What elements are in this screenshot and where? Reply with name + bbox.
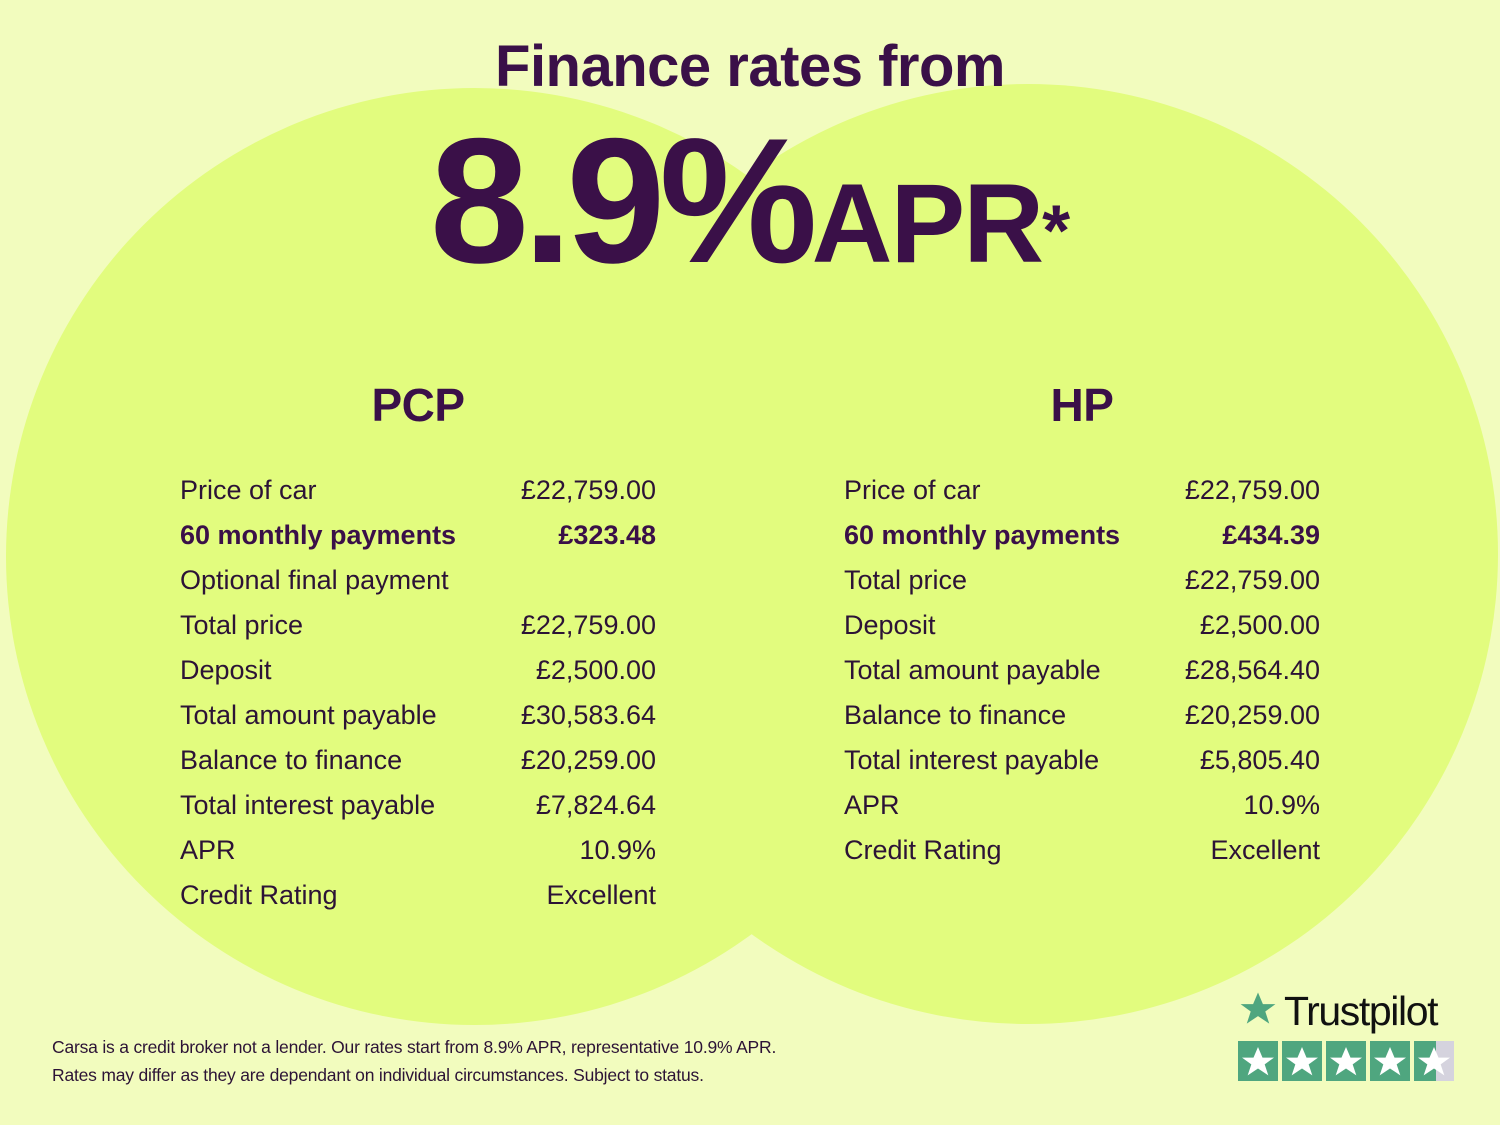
star-icon [1370, 1041, 1410, 1081]
trustpilot-wordmark-text: Trustpilot [1284, 991, 1437, 1032]
row-value: £20,259.00 [521, 738, 656, 783]
table-row: Balance to finance£20,259.00 [844, 693, 1320, 738]
table-row: APR10.9% [844, 783, 1320, 828]
row-value: £22,759.00 [521, 603, 656, 648]
table-row: Balance to finance£20,259.00 [180, 738, 656, 783]
plan-pcp-title: PCP [168, 382, 668, 428]
page-title: Finance rates from [0, 38, 1500, 96]
row-value: £20,259.00 [1185, 693, 1320, 738]
row-label: Credit Rating [844, 828, 1002, 873]
table-row: 60 monthly payments£323.48 [180, 513, 656, 558]
row-label: Deposit [844, 603, 936, 648]
row-label: Total price [180, 603, 303, 648]
plan-hp-title: HP [832, 382, 1332, 428]
row-value: 10.9% [579, 828, 656, 873]
row-value: £28,564.40 [1185, 648, 1320, 693]
row-label: 60 monthly payments [844, 513, 1120, 558]
trustpilot-logo: Trustpilot [1238, 990, 1454, 1033]
table-row: Total amount payable£28,564.40 [844, 648, 1320, 693]
row-label: Total price [844, 558, 967, 603]
apr-label: APR [812, 161, 1042, 286]
apr-headline: 8.9%APR* [0, 112, 1500, 290]
row-value: £7,824.64 [536, 783, 656, 828]
trustpilot-star [1326, 1041, 1366, 1081]
apr-rate-value: 8.9% [430, 101, 812, 300]
table-row: Deposit£2,500.00 [844, 603, 1320, 648]
row-label: Total amount payable [180, 693, 437, 738]
row-value: £434.39 [1222, 513, 1320, 558]
apr-footnote-asterisk: * [1042, 192, 1070, 272]
star-icon [1238, 1041, 1278, 1081]
trustpilot-star [1238, 1041, 1278, 1081]
row-label: Price of car [180, 468, 317, 513]
table-row: Price of car£22,759.00 [844, 468, 1320, 513]
row-label: Balance to finance [180, 738, 402, 783]
row-label: Total interest payable [844, 738, 1099, 783]
finance-comparison-tables: PCP Price of car£22,759.0060 monthly pay… [0, 382, 1500, 918]
row-value: £2,500.00 [1200, 603, 1320, 648]
row-label: Optional final payment [180, 558, 449, 603]
star-icon [1282, 1041, 1322, 1081]
table-row: Credit RatingExcellent [180, 873, 656, 918]
trustpilot-star [1282, 1041, 1322, 1081]
row-value: £2,500.00 [536, 648, 656, 693]
row-value: Excellent [546, 873, 656, 918]
table-row: Price of car£22,759.00 [180, 468, 656, 513]
table-row: Credit RatingExcellent [844, 828, 1320, 873]
trustpilot-star [1414, 1041, 1454, 1081]
row-label: Total amount payable [844, 648, 1101, 693]
table-row: Total amount payable£30,583.64 [180, 693, 656, 738]
plan-hp-rows: Price of car£22,759.0060 monthly payment… [832, 468, 1332, 873]
table-row: Total price£22,759.00 [180, 603, 656, 648]
row-label: APR [180, 828, 236, 873]
row-label: Total interest payable [180, 783, 435, 828]
trustpilot-star [1370, 1041, 1410, 1081]
star-icon [1238, 990, 1278, 1033]
table-row: Total interest payable£7,824.64 [180, 783, 656, 828]
table-row: Optional final payment [180, 558, 656, 603]
row-label: 60 monthly payments [180, 513, 456, 558]
row-label: Balance to finance [844, 693, 1066, 738]
row-value: £30,583.64 [521, 693, 656, 738]
finance-rates-card: Finance rates from 8.9%APR* PCP Price of… [0, 0, 1500, 1125]
row-value: Excellent [1210, 828, 1320, 873]
row-value: £22,759.00 [1185, 468, 1320, 513]
row-value: £22,759.00 [1185, 558, 1320, 603]
disclaimer-line-2: Rates may differ as they are dependant o… [52, 1061, 852, 1089]
row-label: Deposit [180, 648, 272, 693]
row-value: 10.9% [1243, 783, 1320, 828]
row-value: £323.48 [558, 513, 656, 558]
disclaimer-line-1: Carsa is a credit broker not a lender. O… [52, 1033, 852, 1061]
plan-pcp-rows: Price of car£22,759.0060 monthly payment… [168, 468, 668, 918]
trustpilot-stars [1238, 1041, 1454, 1081]
star-icon [1326, 1041, 1366, 1081]
row-label: Credit Rating [180, 873, 338, 918]
table-row: APR10.9% [180, 828, 656, 873]
disclaimer-text: Carsa is a credit broker not a lender. O… [52, 1033, 852, 1089]
row-value: £5,805.40 [1200, 738, 1320, 783]
table-row: 60 monthly payments£434.39 [844, 513, 1320, 558]
table-row: Total price£22,759.00 [844, 558, 1320, 603]
plan-pcp: PCP Price of car£22,759.0060 monthly pay… [168, 382, 668, 918]
row-value: £22,759.00 [521, 468, 656, 513]
row-label: APR [844, 783, 900, 828]
plan-hp: HP Price of car£22,759.0060 monthly paym… [832, 382, 1332, 918]
row-label: Price of car [844, 468, 981, 513]
trustpilot-rating[interactable]: Trustpilot [1238, 990, 1454, 1081]
table-row: Deposit£2,500.00 [180, 648, 656, 693]
star-icon [1414, 1041, 1454, 1081]
table-row: Total interest payable£5,805.40 [844, 738, 1320, 783]
